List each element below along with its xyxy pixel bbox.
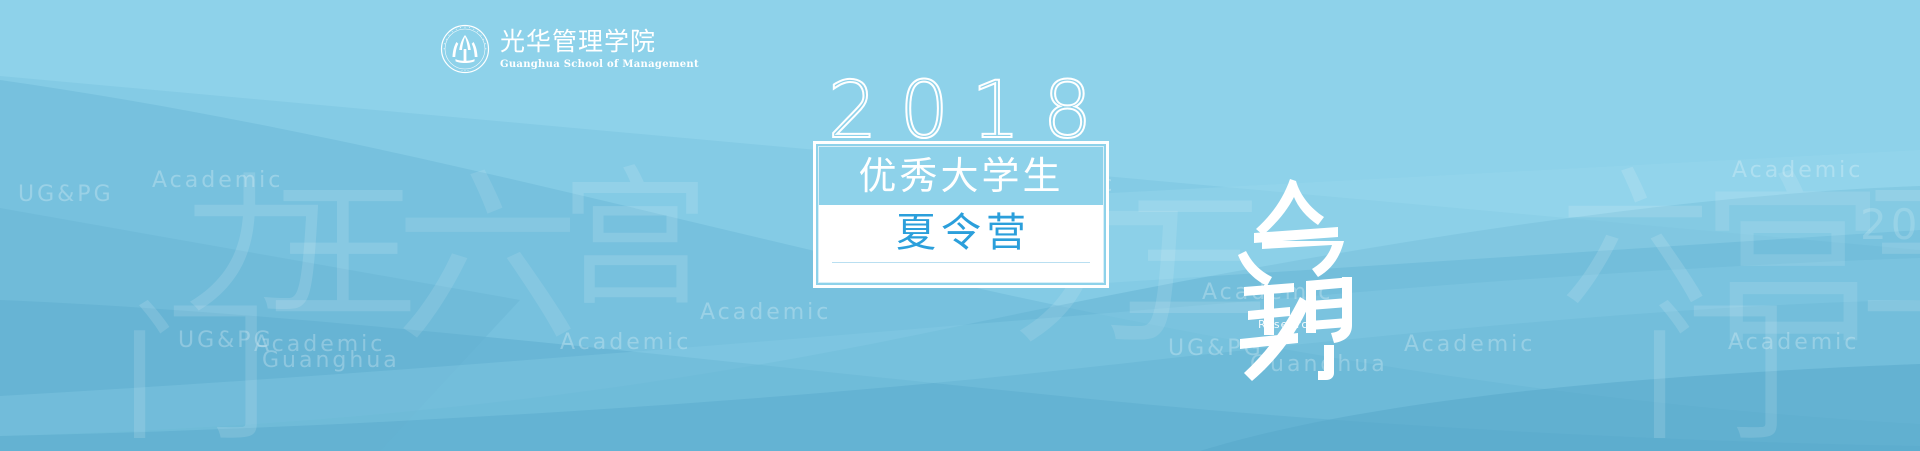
title-divider xyxy=(832,262,1090,263)
logo-text-column: 光华管理学院 Guanghua School of Management xyxy=(500,27,699,70)
calligraphy-fa-xian xyxy=(1228,175,1364,381)
content-layer: 光华管理学院 Guanghua School of Management 201… xyxy=(0,0,1920,451)
logo-school-name-cn: 光华管理学院 xyxy=(500,29,699,55)
title-line-1: 优秀大学生 xyxy=(858,157,1063,195)
title-card-inner: 优秀大学生 夏令营 xyxy=(818,146,1104,283)
title-top-section: 优秀大学生 xyxy=(819,147,1103,205)
title-bottom-section: 夏令营 xyxy=(819,205,1103,282)
title-line-2: 夏令营 xyxy=(891,213,1031,253)
title-card: 优秀大学生 夏令营 xyxy=(813,141,1109,288)
calligraphy-svg xyxy=(1228,175,1364,381)
calligraphy-label: Research xyxy=(1258,318,1316,331)
banner-root: UG&PGAcademicUG&PGAcademicGuanghuaAcadem… xyxy=(0,0,1920,451)
